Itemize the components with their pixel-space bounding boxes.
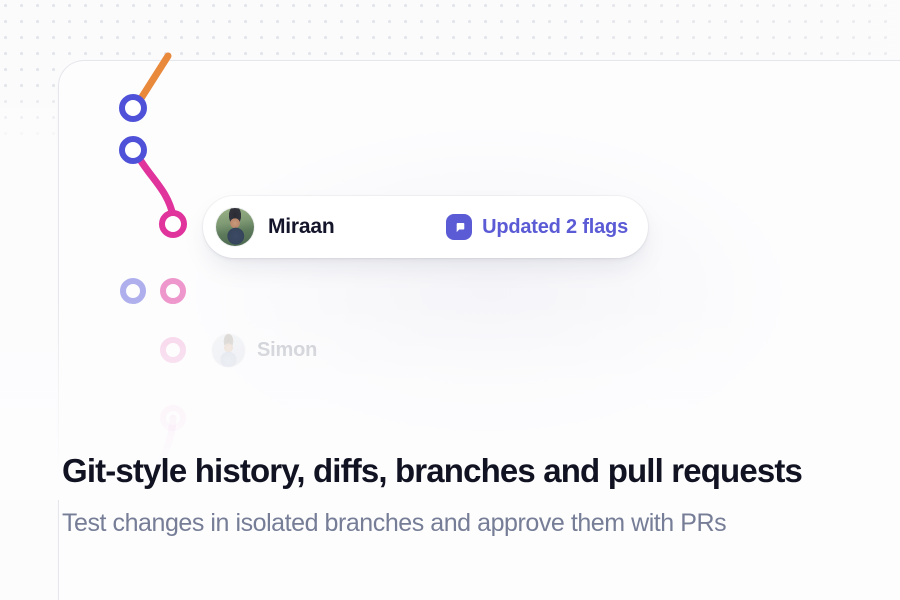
simon-avatar: [212, 334, 245, 367]
headline: Git-style history, diffs, branches and p…: [62, 452, 882, 491]
activity-author-name: Miraan: [268, 215, 335, 239]
panel-glow: [179, 121, 799, 461]
flag-icon: [446, 214, 472, 240]
secondary-activity-row[interactable]: Simon: [212, 334, 317, 367]
subtitle: Test changes in isolated branches and ap…: [62, 508, 882, 538]
feature-panel-screenshot: Miraan Updated 2 flags Simon Git-style h…: [0, 0, 900, 600]
activity-meta: Updated 2 flags: [446, 214, 628, 240]
copy-block: Git-style history, diffs, branches and p…: [62, 452, 882, 538]
miraan-avatar: [216, 208, 254, 246]
secondary-author-name: Simon: [257, 339, 317, 362]
activity-card[interactable]: Miraan Updated 2 flags: [203, 196, 648, 258]
activity-action-text: Updated 2 flags: [482, 216, 628, 239]
